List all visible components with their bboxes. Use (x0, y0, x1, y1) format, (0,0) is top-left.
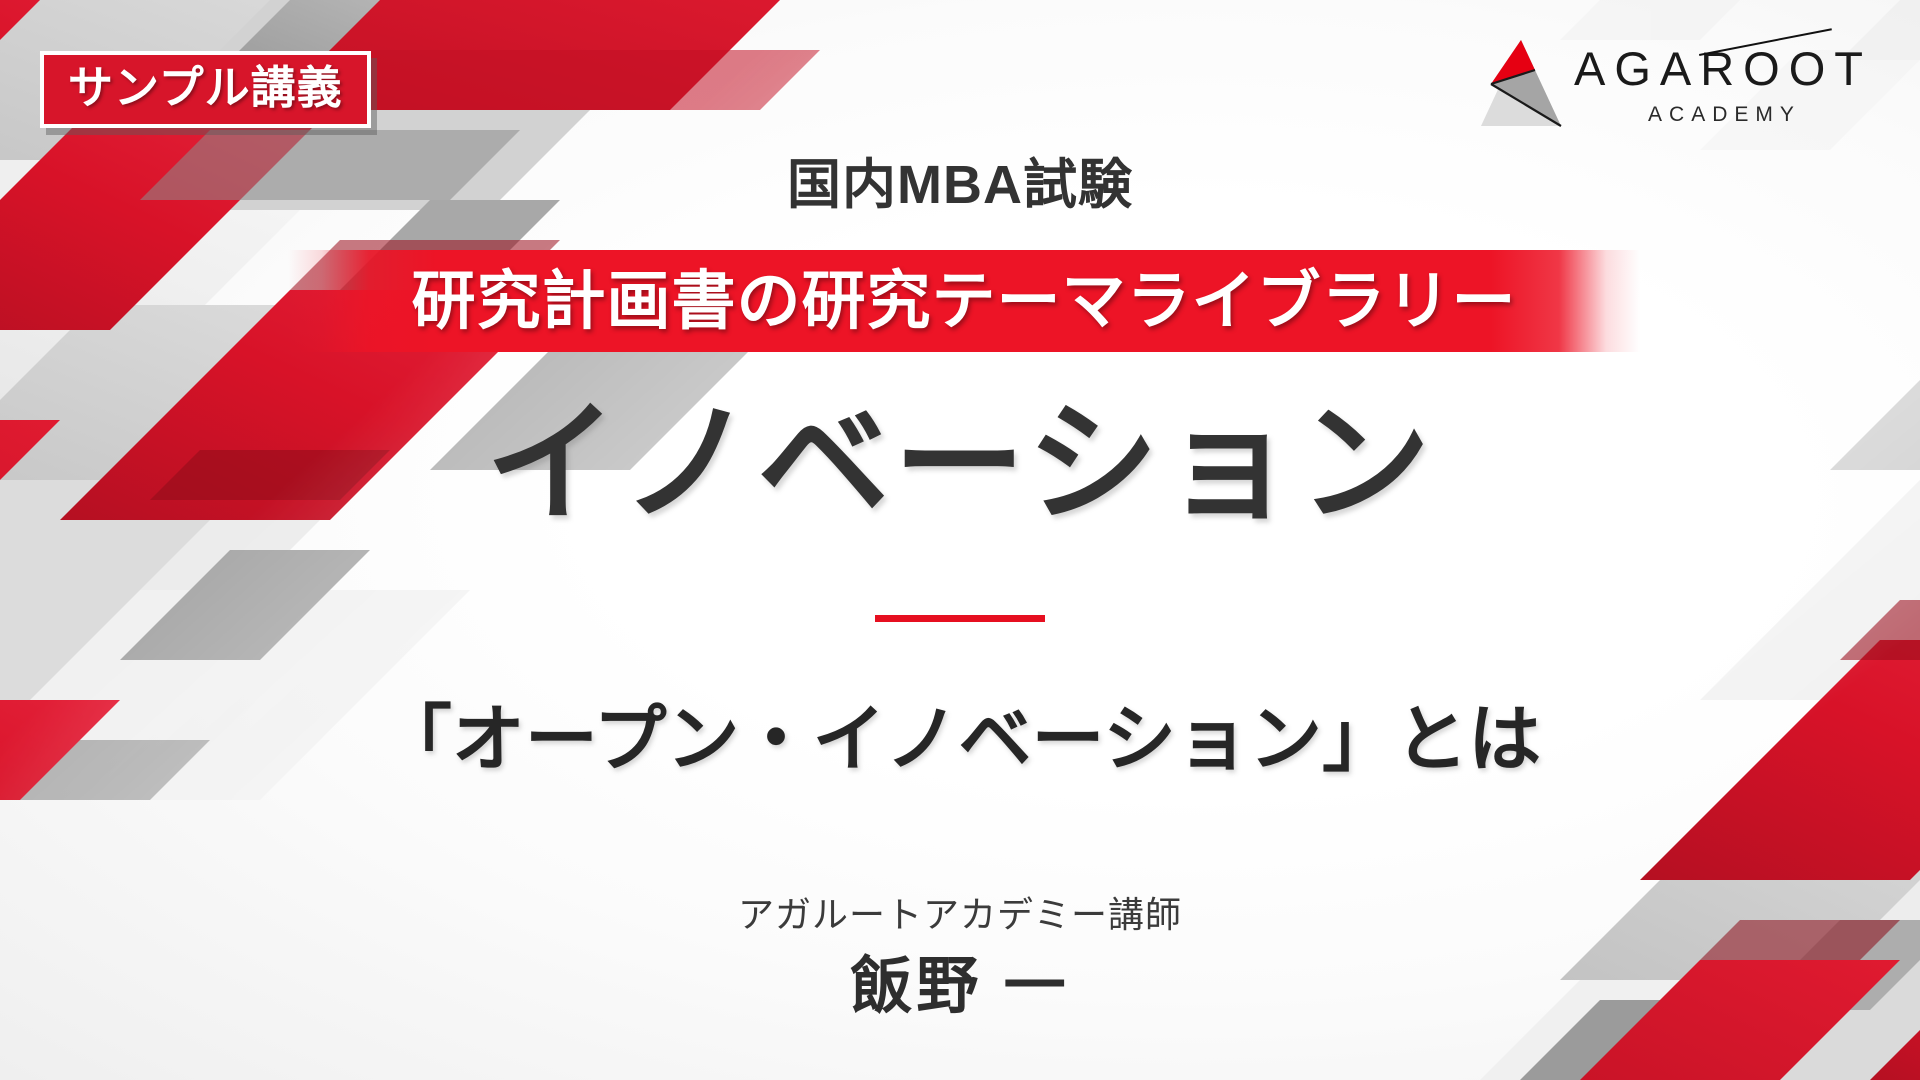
speaker-name: 飯野 一 (0, 956, 1920, 1018)
agaroot-wordmark-group: AGAROOT ACADEMY (1571, 36, 1872, 127)
slide-canvas: サンプル講義 AGAROOT ACADEMY 国内MBA試験 研究計画書の研究テ… (0, 0, 1920, 1080)
sample-lecture-badge-label: サンプル講義 (68, 65, 343, 110)
page-subtitle: 「オープン・イノベーション」とは (0, 703, 1920, 776)
academy-subwordmark: ACADEMY (1642, 103, 1801, 127)
speaker-role: アガルートアカデミー講師 (0, 897, 1920, 933)
kicker-exam-label: 国内MBA試験 (0, 158, 1920, 212)
page-title: イノベーション (0, 390, 1920, 538)
title-divider (875, 615, 1045, 622)
agaroot-academy-logo: AGAROOT ACADEMY (1477, 36, 1872, 131)
agaroot-triangle-icon (1477, 36, 1565, 131)
sample-lecture-badge: サンプル講義 (40, 51, 371, 128)
series-banner-label: 研究計画書の研究テーマライブラリー (412, 269, 1517, 333)
agaroot-wordmark: AGAROOT (1571, 45, 1872, 92)
series-banner: 研究計画書の研究テーマライブラリー (288, 250, 1640, 352)
